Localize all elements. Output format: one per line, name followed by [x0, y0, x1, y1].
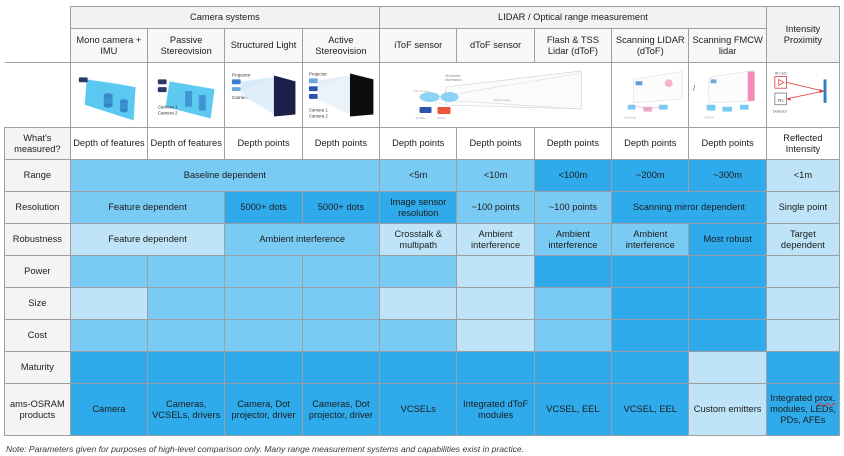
row-label-maturity: Maturity [5, 352, 71, 384]
scanning-lidar-diagram: Scanning [612, 63, 689, 128]
cell-products-passive-stereovision: Cameras, VCSELs, drivers [148, 384, 225, 436]
table-row: What's measured? Depth of features Depth… [5, 128, 840, 160]
proximity-led-detector-diagram: IR LED Rx Detector [766, 63, 839, 128]
mono-camera-diagram [70, 63, 147, 128]
cell-maturity-itof-sensor [380, 352, 457, 384]
table-row: Power [5, 256, 840, 288]
cell-cost-structured-light [225, 320, 302, 352]
svg-text:Driver: Driver [438, 116, 446, 120]
illustration-row: Camera 1 Camera 2 Projector Camera [5, 63, 840, 128]
column-title-scanning-lidar: Scanning LIDAR (dToF) [612, 29, 689, 63]
svg-text:Scanning: Scanning [624, 115, 637, 119]
cell-whats-measured-dtof-sensor: Depth points [457, 128, 534, 160]
cell-cost-intensity-proximity [766, 320, 839, 352]
svg-text:Rx: Rx [778, 98, 785, 104]
row-label-ams-osram-products: ams-OSRAM products [5, 384, 71, 436]
cell-resolution-dtof-sensor: ~100 points [457, 192, 534, 224]
group-header-row: Camera systems LIDAR / Optical range mea… [5, 7, 840, 29]
row-label-range: Range [5, 160, 71, 192]
cell-products-flash-tss-lidar: VCSEL, EEL [534, 384, 611, 436]
row-label-size: Size [5, 288, 71, 320]
cell-power-dtof-sensor [457, 256, 534, 288]
cell-maturity-flash-tss-lidar [534, 352, 611, 384]
cell-whats-measured-scanning-fmcw-lidar: Depth points [689, 128, 766, 160]
cell-whats-measured-scanning-lidar: Depth points [612, 128, 689, 160]
cell-cost-dtof-sensor [457, 320, 534, 352]
cell-products-intensity-proximity: Integrated prox. modules, LEDs, PDs, AFE… [766, 384, 839, 436]
cell-range-dtof-sensor: <10m [457, 160, 534, 192]
cell-robustness-itof-sensor: Crosstalk & multipath [380, 224, 457, 256]
cell-size-dtof-sensor [457, 288, 534, 320]
scanning-fmcw-diagram-svg: / FMCW [691, 65, 763, 125]
cell-maturity-scanning-lidar [612, 352, 689, 384]
cell-robustness-intensity-proximity: Target dependent [766, 224, 839, 256]
cell-whats-measured-itof-sensor: Depth points [380, 128, 457, 160]
group-header-lidar-optical: LIDAR / Optical range measurement [380, 7, 767, 29]
cell-size-passive-stereovision [148, 288, 225, 320]
table-row: Resolution Feature dependent 5000+ dots … [5, 192, 840, 224]
cell-cost-flash-tss-lidar [534, 320, 611, 352]
cell-power-structured-light [225, 256, 302, 288]
illustration-blank [5, 63, 71, 128]
cell-maturity-active-stereovision [302, 352, 379, 384]
column-title-itof-sensor: iToF sensor [380, 29, 457, 63]
scanning-lidar-diagram-svg: Scanning [614, 65, 686, 125]
column-title-flash-tss-lidar: Flash & TSS Lidar (dToF) [534, 29, 611, 63]
cell-maturity-passive-stereovision [148, 352, 225, 384]
cell-robustness-ambient-interference-sl: Ambient interference [225, 224, 380, 256]
passive-stereovision-diagram: Camera 1 Camera 2 [148, 63, 225, 128]
table-row: ams-OSRAM products Camera Cameras, VCSEL… [5, 384, 840, 436]
cell-power-scanning-fmcw-lidar [689, 256, 766, 288]
cell-resolution-itof-sensor: Image sensor resolution [380, 192, 457, 224]
svg-text:Camera 1: Camera 1 [309, 108, 328, 113]
cell-size-structured-light [225, 288, 302, 320]
svg-text:IR LED: IR LED [775, 72, 787, 76]
table-row: Maturity [5, 352, 840, 384]
cell-maturity-dtof-sensor [457, 352, 534, 384]
comparison-table-page: Camera systems LIDAR / Optical range mea… [0, 0, 844, 456]
scanning-fmcw-diagram: / FMCW [689, 63, 766, 128]
column-title-blank [5, 29, 71, 63]
cell-resolution-feature-dependent: Feature dependent [70, 192, 225, 224]
svg-text:Camera 2: Camera 2 [309, 113, 328, 118]
column-title-scanning-fmcw-lidar: Scanning FMCW lidar [689, 29, 766, 63]
cell-size-mono-camera-imu [70, 288, 147, 320]
cell-maturity-mono-camera-imu [70, 352, 147, 384]
table-row: Size [5, 288, 840, 320]
cell-whats-measured-intensity-proximity: Reflected Intensity [766, 128, 839, 160]
structured-light-diagram: Projector Camera [225, 63, 302, 128]
column-title-dtof-sensor: dToF sensor [457, 29, 534, 63]
group-header-intensity-proximity: Intensity Proximity [766, 7, 839, 63]
cell-products-itof-sensor: VCSELs [380, 384, 457, 436]
column-title-mono-camera-imu: Mono camera + IMU [70, 29, 147, 63]
cell-whats-measured-flash-tss-lidar: Depth points [534, 128, 611, 160]
svg-text:Projector: Projector [309, 71, 327, 76]
active-stereovision-diagram: Projector Camera 1 Camera 2 [302, 63, 379, 128]
cell-size-scanning-fmcw-lidar [689, 288, 766, 320]
svg-text:Projector: Projector [232, 72, 251, 77]
cell-range-intensity-proximity: <1m [766, 160, 839, 192]
cell-cost-itof-sensor [380, 320, 457, 352]
cell-cost-scanning-fmcw-lidar [689, 320, 766, 352]
column-title-active-stereovision: Active Stereovision [302, 29, 379, 63]
row-label-whats-measured: What's measured? [5, 128, 71, 160]
cell-range-itof-sensor: <5m [380, 160, 457, 192]
cell-robustness-scanning-lidar: Ambient interference [612, 224, 689, 256]
svg-text:iToF sensor: iToF sensor [414, 89, 430, 93]
cell-cost-active-stereovision [302, 320, 379, 352]
itof-scene-diagram: Modulated illumination iToF sensor VCSEL… [380, 63, 612, 128]
cell-whats-measured-structured-light: Depth points [225, 128, 302, 160]
cell-products-mono-camera-imu: Camera [70, 384, 147, 436]
row-label-power: Power [5, 256, 71, 288]
cell-size-intensity-proximity [766, 288, 839, 320]
cell-power-flash-tss-lidar [534, 256, 611, 288]
table-row: Cost [5, 320, 840, 352]
cell-products-active-stereovision: Cameras, Dot projector, driver [302, 384, 379, 436]
svg-text:illumination: illumination [446, 78, 462, 82]
column-title-row: Mono camera + IMU Passive Stereovision S… [5, 29, 840, 63]
cell-products-scanning-lidar: VCSEL, EEL [612, 384, 689, 436]
row-label-resolution: Resolution [5, 192, 71, 224]
corner-blank [5, 7, 71, 29]
cell-resolution-flash-tss-lidar: ~100 points [534, 192, 611, 224]
cell-products-dtof-sensor: Integrated dToF modules [457, 384, 534, 436]
cell-range-scanning-fmcw-lidar: ~300m [689, 160, 766, 192]
cell-size-flash-tss-lidar [534, 288, 611, 320]
mono-camera-diagram-svg [73, 65, 145, 125]
active-stereovision-diagram-svg: Projector Camera 1 Camera 2 [305, 65, 377, 125]
cell-power-mono-camera-imu [70, 256, 147, 288]
row-label-cost: Cost [5, 320, 71, 352]
cell-maturity-structured-light [225, 352, 302, 384]
cell-products-scanning-fmcw-lidar: Custom emitters [689, 384, 766, 436]
cell-size-active-stereovision [302, 288, 379, 320]
cell-size-scanning-lidar [612, 288, 689, 320]
svg-text:Detector: Detector [773, 110, 788, 114]
itof-scene-diagram-svg: Modulated illumination iToF sensor VCSEL… [382, 65, 609, 125]
cell-cost-scanning-lidar [612, 320, 689, 352]
cell-resolution-active-stereovision: 5000+ dots [302, 192, 379, 224]
table-row: Robustness Feature dependent Ambient int… [5, 224, 840, 256]
cell-size-itof-sensor [380, 288, 457, 320]
cell-power-intensity-proximity [766, 256, 839, 288]
row-label-robustness: Robustness [5, 224, 71, 256]
sensing-technology-comparison-table: Camera systems LIDAR / Optical range mea… [4, 6, 840, 436]
svg-text:Depth image: Depth image [494, 98, 511, 102]
cell-range-scanning-lidar: ~200m [612, 160, 689, 192]
cell-resolution-intensity-proximity: Single point [766, 192, 839, 224]
cell-power-active-stereovision [302, 256, 379, 288]
cell-robustness-scanning-fmcw-lidar: Most robust [689, 224, 766, 256]
cell-whats-measured-mono-camera-imu: Depth of features [70, 128, 147, 160]
cell-range-flash-tss-lidar: <100m [534, 160, 611, 192]
svg-text:VCSEL: VCSEL [416, 116, 426, 120]
cell-robustness-dtof-sensor: Ambient interference [457, 224, 534, 256]
cell-robustness-flash-tss-lidar: Ambient interference [534, 224, 611, 256]
cell-power-scanning-lidar [612, 256, 689, 288]
cell-maturity-intensity-proximity [766, 352, 839, 384]
cell-range-baseline-dependent: Baseline dependent [70, 160, 379, 192]
column-title-structured-light: Structured Light [225, 29, 302, 63]
cell-power-passive-stereovision [148, 256, 225, 288]
proximity-led-detector-diagram-svg: IR LED Rx Detector [769, 65, 837, 125]
table-row: Range Baseline dependent <5m <10m <100m … [5, 160, 840, 192]
structured-light-diagram-svg: Projector Camera [227, 65, 299, 125]
cell-cost-mono-camera-imu [70, 320, 147, 352]
column-title-passive-stereovision: Passive Stereovision [148, 29, 225, 63]
cell-cost-passive-stereovision [148, 320, 225, 352]
cell-whats-measured-passive-stereovision: Depth of features [148, 128, 225, 160]
svg-text:FMCW: FMCW [705, 115, 714, 119]
spellcheck-flagged-word: prox. [815, 393, 836, 403]
cell-resolution-scanning-mirror-dependent: Scanning mirror dependent [612, 192, 767, 224]
cell-maturity-scanning-fmcw-lidar [689, 352, 766, 384]
cell-robustness-feature-dependent: Feature dependent [70, 224, 225, 256]
group-header-camera-systems: Camera systems [70, 7, 379, 29]
svg-text:/: / [693, 84, 696, 93]
footnote-text: Note: Parameters given for purposes of h… [6, 444, 524, 454]
cell-resolution-structured-light: 5000+ dots [225, 192, 302, 224]
svg-text:Camera 1: Camera 1 [158, 105, 178, 110]
passive-stereovision-diagram-svg: Camera 1 Camera 2 [150, 65, 222, 125]
cell-products-structured-light: Camera, Dot projector, driver [225, 384, 302, 436]
cell-whats-measured-active-stereovision: Depth points [302, 128, 379, 160]
svg-text:Camera 2: Camera 2 [158, 111, 178, 116]
cell-power-itof-sensor [380, 256, 457, 288]
